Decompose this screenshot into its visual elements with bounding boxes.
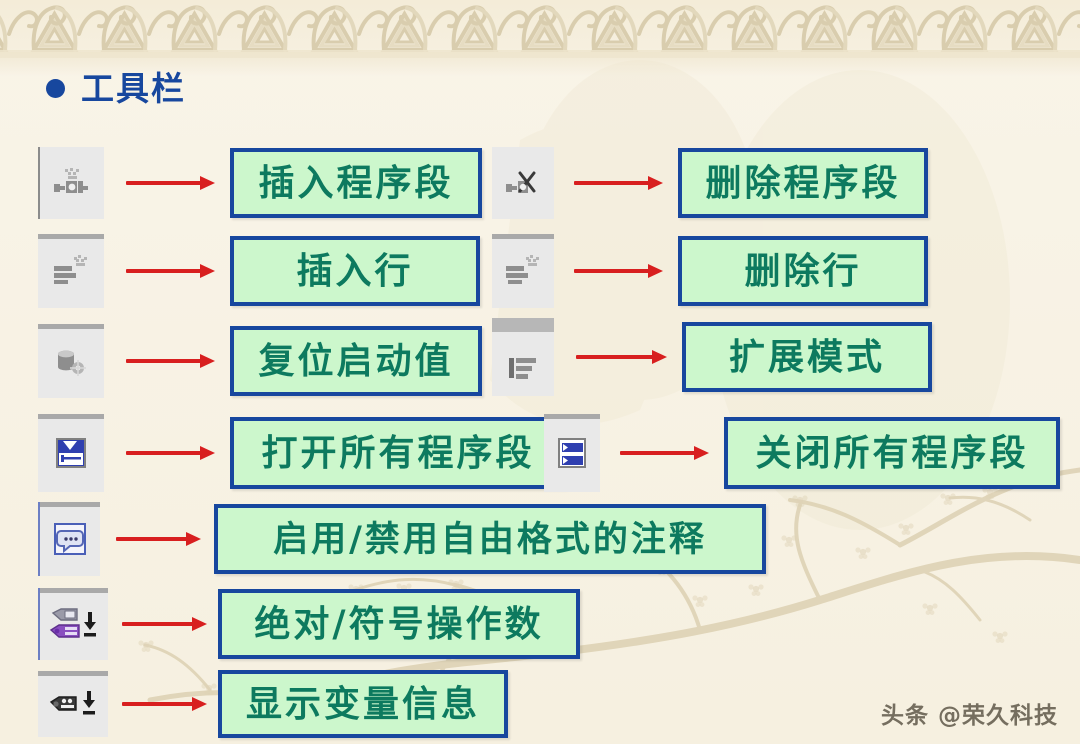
label-text: 启用/禁用自由格式的注释: [273, 522, 707, 557]
label-text: 扩展模式: [729, 339, 885, 375]
label-show-variable-info[interactable]: 显示变量信息: [218, 670, 508, 738]
page-title: 工具栏: [46, 72, 186, 105]
arrow-icon: [620, 447, 710, 459]
watermark-credit: 头条 @荣久科技: [881, 696, 1058, 730]
insert-row-icon[interactable]: [38, 234, 104, 308]
arrow-icon: [574, 265, 664, 277]
arrow-icon: [116, 533, 202, 545]
label-delete-row[interactable]: 删除行: [678, 236, 928, 306]
label-insert-row[interactable]: 插入行: [230, 236, 480, 306]
legend-item-reset-startup-value: 复位启动值: [38, 324, 482, 398]
label-text: 显示变量信息: [246, 686, 480, 722]
label-text: 关闭所有程序段: [755, 435, 1028, 471]
legend-item-open-all-networks: 打开所有程序段: [38, 414, 566, 492]
label-text: 绝对/符号操作数: [254, 606, 543, 642]
legend-item-show-variable-info: 显示变量信息: [38, 670, 508, 738]
legend-item-insert-row: 插入行: [38, 234, 480, 308]
label-reset-startup-value[interactable]: 复位启动值: [230, 326, 482, 396]
arrow-icon: [122, 698, 208, 710]
delete-row-icon[interactable]: [492, 234, 554, 308]
extended-mode-icon[interactable]: [492, 318, 554, 396]
label-text: 删除行: [744, 253, 861, 289]
legend-item-delete-row: 删除行: [492, 234, 928, 308]
label-text: 删除程序段: [705, 165, 900, 201]
arrow-icon: [574, 177, 664, 189]
legend-item-close-all-networks: 关闭所有程序段: [544, 414, 1060, 492]
arrow-icon: [576, 351, 668, 363]
legend-item-delete-network: 删除程序段: [492, 147, 928, 219]
label-text: 复位启动值: [258, 343, 453, 379]
show-variable-info-icon[interactable]: [38, 671, 108, 737]
legend-item-free-form-comment: 启用/禁用自由格式的注释: [38, 502, 766, 576]
arrow-icon: [126, 355, 216, 367]
legend-item-insert-network: 插入程序段: [38, 147, 482, 219]
legend-item-absolute-symbolic-operand: 绝对/符号操作数: [38, 588, 580, 660]
arrow-icon: [126, 265, 216, 277]
close-all-networks-icon[interactable]: [544, 414, 600, 492]
label-insert-network[interactable]: 插入程序段: [230, 148, 482, 218]
label-delete-network[interactable]: 删除程序段: [678, 148, 928, 218]
arrow-icon: [126, 447, 216, 459]
label-open-all-networks[interactable]: 打开所有程序段: [230, 417, 566, 489]
arrow-icon: [122, 618, 208, 630]
delete-network-icon[interactable]: [492, 147, 554, 219]
label-free-form-comment[interactable]: 启用/禁用自由格式的注释: [214, 504, 766, 574]
insert-network-icon[interactable]: [38, 147, 104, 219]
label-extended-mode[interactable]: 扩展模式: [682, 322, 932, 392]
label-text: 打开所有程序段: [261, 435, 534, 471]
label-text: 插入行: [296, 253, 413, 289]
open-all-networks-icon[interactable]: [38, 414, 104, 492]
arrow-icon: [126, 177, 216, 189]
toolbar-legend-list: 插入程序段: [0, 0, 1080, 744]
absolute-symbolic-operand-icon[interactable]: [38, 588, 108, 660]
free-form-comment-icon[interactable]: [38, 502, 100, 576]
reset-startup-value-icon[interactable]: [38, 324, 104, 398]
bullet-icon: [46, 79, 65, 98]
label-close-all-networks[interactable]: 关闭所有程序段: [724, 417, 1060, 489]
legend-item-extended-mode: 扩展模式: [492, 318, 932, 396]
label-text: 插入程序段: [258, 165, 453, 201]
label-absolute-symbolic-operand[interactable]: 绝对/符号操作数: [218, 589, 580, 659]
page-title-text: 工具栏: [81, 72, 186, 105]
